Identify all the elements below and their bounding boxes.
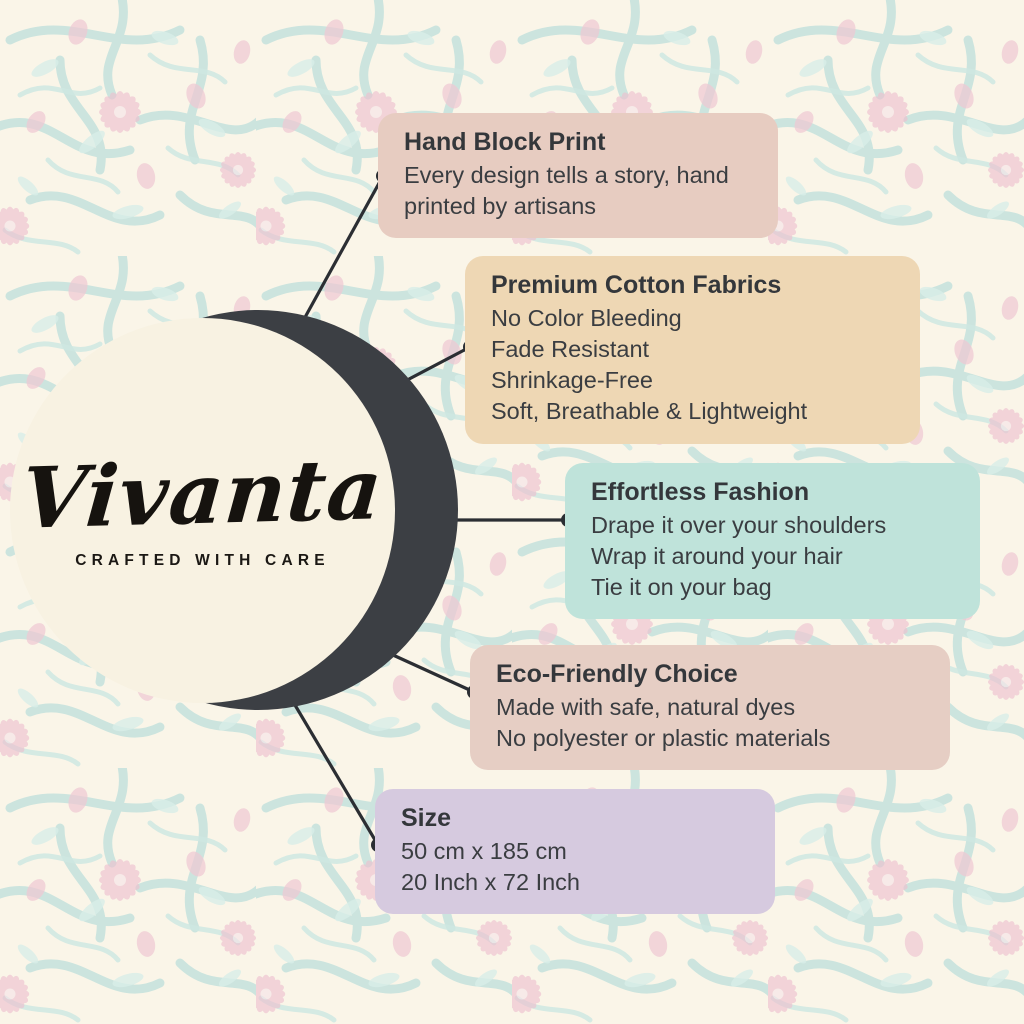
card-line: No Color Bleeding — [491, 303, 900, 334]
card-title: Effortless Fashion — [591, 477, 960, 508]
card-line: No polyester or plastic materials — [496, 723, 930, 754]
infographic-canvas: Vivanta CRAFTED WITH CARE Hand Block Pri… — [0, 0, 1024, 1024]
card-line: Shrinkage-Free — [491, 365, 900, 396]
card-line: Soft, Breathable & Lightweight — [491, 396, 900, 427]
feature-card-effortless-fashion: Effortless Fashion Drape it over your sh… — [565, 463, 980, 619]
brand-tagline: CRAFTED WITH CARE — [75, 552, 330, 570]
feature-card-eco-friendly-choice: Eco-Friendly Choice Made with safe, natu… — [470, 645, 950, 770]
card-title: Size — [401, 803, 755, 834]
brand-name: Vivanta — [19, 447, 387, 540]
card-line: 20 Inch x 72 Inch — [401, 867, 755, 898]
card-line: Tie it on your bag — [591, 572, 960, 603]
card-line: Drape it over your shoulders — [591, 510, 960, 541]
card-line: Fade Resistant — [491, 334, 900, 365]
card-line: Every design tells a story, hand — [404, 160, 758, 191]
feature-card-size: Size 50 cm x 185 cm 20 Inch x 72 Inch — [375, 789, 775, 914]
feature-card-premium-cotton-fabrics: Premium Cotton Fabrics No Color Bleeding… — [465, 256, 920, 444]
card-line: 50 cm x 185 cm — [401, 836, 755, 867]
logo-badge: Vivanta CRAFTED WITH CARE — [10, 300, 430, 720]
card-line: printed by artisans — [404, 191, 758, 222]
card-line: Wrap it around your hair — [591, 541, 960, 572]
card-title: Eco-Friendly Choice — [496, 659, 930, 690]
card-title: Premium Cotton Fabrics — [491, 270, 900, 301]
feature-card-hand-block-print: Hand Block Print Every design tells a st… — [378, 113, 778, 238]
logo-lockup: Vivanta CRAFTED WITH CARE — [10, 318, 395, 703]
card-line: Made with safe, natural dyes — [496, 692, 930, 723]
card-title: Hand Block Print — [404, 127, 758, 158]
